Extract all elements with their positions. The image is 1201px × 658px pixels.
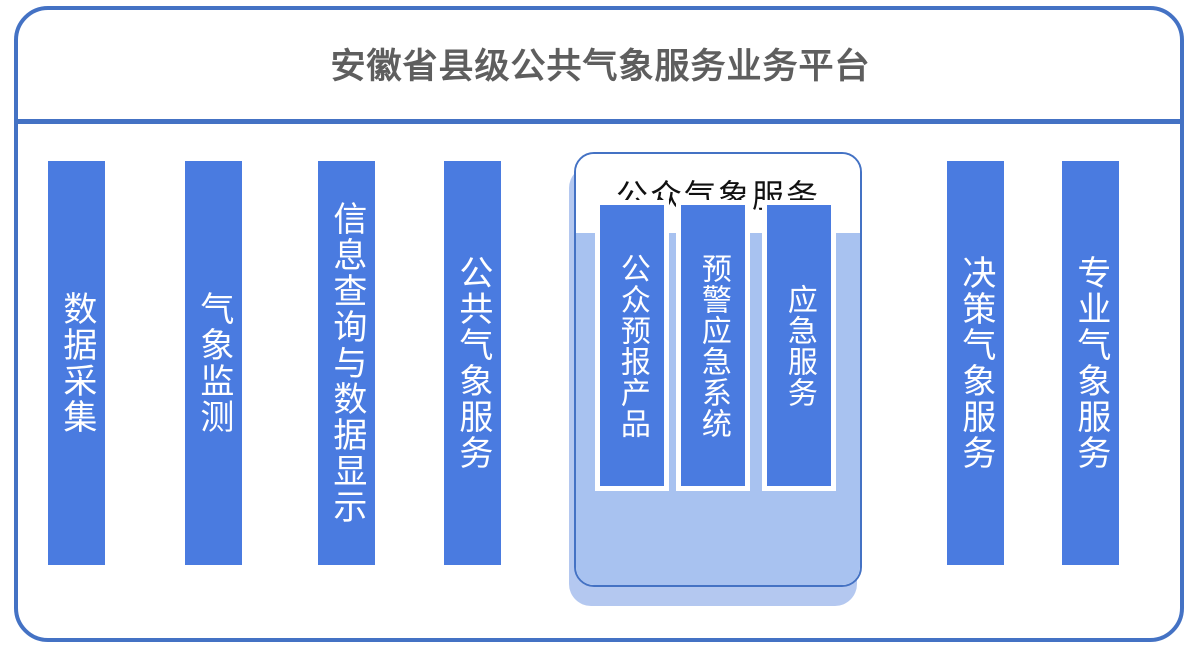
pillar-public-weather-service[interactable]: 公共气象服务 bbox=[444, 161, 501, 565]
pillar-label: 数据采集 bbox=[58, 291, 95, 435]
title-divider bbox=[18, 119, 1184, 124]
inner-pillar-label: 预警应急系统 bbox=[697, 253, 729, 439]
inner-pillar-emergency-service[interactable]: 应急服务 bbox=[762, 200, 836, 491]
inner-pillar-public-forecast-products[interactable]: 公众预报产品 bbox=[595, 200, 669, 491]
pillar-label: 专业气象服务 bbox=[1072, 255, 1109, 471]
pillar-data-collection[interactable]: 数据采集 bbox=[48, 161, 105, 565]
pillar-label: 公共气象服务 bbox=[454, 255, 491, 471]
pillar-info-query-display[interactable]: 信息查询与数据显示 bbox=[318, 161, 375, 565]
page-title: 安徽省县级公共气象服务业务平台 bbox=[0, 38, 1201, 89]
pillar-professional-weather-service[interactable]: 专业气象服务 bbox=[1062, 161, 1119, 565]
pillar-label: 信息查询与数据显示 bbox=[328, 201, 365, 525]
pillar-decision-weather-service[interactable]: 决策气象服务 bbox=[947, 161, 1004, 565]
inner-pillar-label: 应急服务 bbox=[783, 284, 815, 408]
inner-pillar-warning-emergency-system[interactable]: 预警应急系统 bbox=[676, 200, 750, 491]
pillar-label: 决策气象服务 bbox=[957, 255, 994, 471]
diagram-canvas: 安徽省县级公共气象服务业务平台 数据采集 气象监测 信息查询与数据显示 公共气象… bbox=[0, 0, 1201, 658]
pillar-label: 气象监测 bbox=[195, 291, 232, 435]
pillar-weather-monitoring[interactable]: 气象监测 bbox=[185, 161, 242, 565]
inner-pillar-label: 公众预报产品 bbox=[616, 253, 648, 439]
